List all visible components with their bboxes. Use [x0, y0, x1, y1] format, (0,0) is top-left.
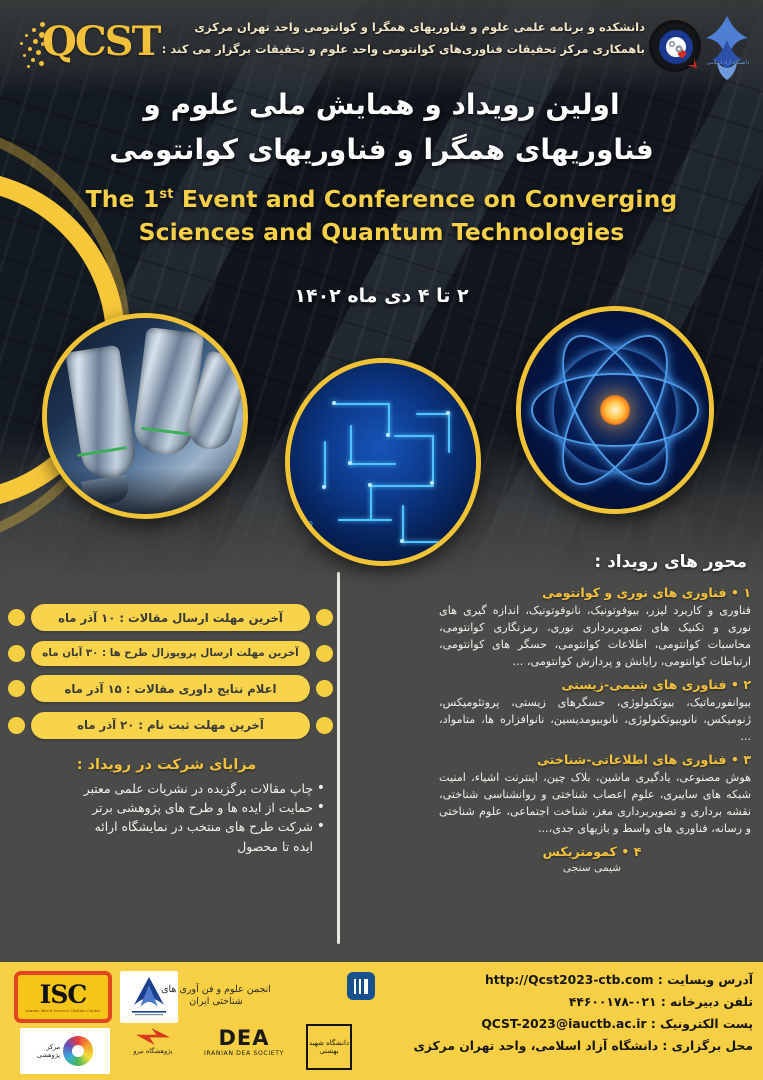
microscope-image-circle: [42, 313, 248, 519]
bolt-icon: [136, 1028, 170, 1045]
isc-main-text: ISC: [40, 982, 87, 1007]
qcst-gears-icon: [666, 37, 686, 57]
topic-title: ۳ • فناوری های اطلاعاتی-شناختی: [433, 752, 751, 767]
english-title-line-1: The 1st Event and Conference on Convergi…: [0, 183, 763, 216]
topic-label: کمومتریکس: [543, 844, 617, 859]
atom-nucleus: [600, 395, 630, 425]
topic-title: ۱ • فناوری های نوری و کوانتومی: [433, 585, 751, 600]
topic-number: ۴ •: [621, 844, 641, 859]
topics-heading: محور های رویداد :: [427, 552, 757, 578]
organizer-line-2: باهمکاری مرکز تحقیقات فناوری‌های کوانتوم…: [125, 38, 645, 60]
deadline-row: آخرین مهلت ارسال مقالات : ۱۰ آذر ماه: [8, 604, 333, 631]
deadline-pill-proposals[interactable]: آخرین مهلت ارسال پروپوزال طرح ها : ۳۰ آب…: [31, 641, 310, 666]
dot-left-icon: [316, 717, 333, 734]
venue-value: دانشگاه آزاد اسلامی، واحد تهران مرکزی: [414, 1039, 659, 1053]
topic-body: فناوری و کاربرد لیزر، بیوفوتونیک، نانوفو…: [433, 602, 751, 670]
azad-caption: دانشگاه آزاد اسلامی: [706, 60, 750, 66]
topic-number: ۲ •: [731, 677, 751, 692]
dea-society-logo: DEA IRANIAN DEA SOCIETY: [192, 1028, 296, 1057]
benefit-item: چاپ مقالات برگزیده در نشریات علمی معتبر: [8, 779, 325, 798]
deadline-pill-registration[interactable]: آخرین مهلت ثبت نام : ۲۰ آذر ماه: [31, 712, 310, 739]
main-content: محور های رویداد : ۱ • فناوری های نوری و …: [0, 552, 763, 964]
isc-logo: ISC Islamic World Science Citation Cente…: [14, 971, 112, 1023]
dot-left-icon: [316, 645, 333, 662]
atom-image-circle: [516, 306, 714, 514]
microscope-photo: [47, 318, 243, 514]
topic-label: فناوری های شیمی-زیستی: [561, 677, 726, 692]
deadline-pill-review-results[interactable]: اعلام نتایج داوری مقالات : ۱۵ آذر ماه: [31, 675, 310, 702]
deadline-row: اعلام نتایج داوری مقالات : ۱۵ آذر ماه: [8, 675, 333, 702]
topics-section: محور های رویداد : ۱ • فناوری های نوری و …: [427, 552, 757, 874]
topic-body: بیوانفورماتیک، بیوتکنولوژی، حسگرهای زیست…: [433, 694, 751, 745]
phone-value: ۰۲۱-۴۴۶۰۰۱۷۸: [569, 995, 657, 1009]
qcst-logo: QCST: [12, 12, 138, 74]
topic-label: فناوری های نوری و کوانتومی: [542, 585, 726, 600]
dot-right-icon: [8, 609, 25, 626]
topic-number: ۱ •: [731, 585, 751, 600]
dot-right-icon: [8, 680, 25, 697]
dot-right-icon: [8, 717, 25, 734]
benefit-item: شرکت طرح های منتخب در نمایشگاه ارائه: [8, 817, 325, 836]
benefit-continuation: ایده تا محصول: [8, 837, 325, 856]
topic-label: فناوری های اطلاعاتی-شناختی: [537, 752, 727, 767]
benefits-section: مزایای شرکت در رویداد : چاپ مقالات برگزی…: [8, 757, 333, 856]
email-line: پست الکترونیک : QCST-2023@iauctb.ac.ir: [333, 1014, 753, 1036]
dea-main-text: DEA: [218, 1026, 269, 1050]
benefits-heading: مزایای شرکت در رویداد :: [8, 757, 325, 773]
isc-sub-text: Islamic World Science Citation Center: [26, 1009, 101, 1013]
topic-item: ۲ • فناوری های شیمی-زیستی بیوانفورماتیک،…: [427, 677, 757, 745]
phone-line: تلفن دبیرخانه : ۰۲۱-۴۴۶۰۰۱۷۸: [333, 992, 753, 1014]
venue-line: محل برگزاری : دانشگاه آزاد اسلامی، واحد …: [333, 1036, 753, 1058]
topic-item: ۳ • فناوری های اطلاعاتی-شناختی هوش مصنوع…: [427, 752, 757, 837]
atom-photo: [521, 311, 709, 509]
english-title-line-2: Sciences and Quantum Technologies: [0, 216, 763, 249]
ordinal-suffix: st: [159, 187, 173, 202]
dot-left-icon: [316, 609, 333, 626]
contact-info: آدرس وبسایت : http://Qcst2023-ctb.com تل…: [333, 970, 753, 1058]
persian-title-line-2: فناوریهای همگرا و فناوریهای کوانتومی: [0, 127, 763, 172]
azad-university-logo-icon: [701, 12, 753, 86]
organizer-text: دانشکده و برنامه علمی علوم و فناوریهای ه…: [125, 16, 645, 61]
vertical-divider: [337, 572, 340, 944]
email-label: پست الکترونیک :: [651, 1017, 753, 1031]
niroo-label: پژوهشگاه نیرو: [118, 1047, 188, 1055]
topic-item: ۴ • کمومتریکس شیمی سنجی: [427, 844, 757, 874]
dot-left-icon: [316, 680, 333, 697]
cognitive-society-name: انجمن علوم و فن آوری های شناختی ایران: [156, 984, 276, 1009]
color-wheel-icon: [63, 1036, 93, 1066]
deadline-row: آخرین مهلت ارسال پروپوزال طرح ها : ۳۰ آب…: [8, 641, 333, 666]
sponsor-logos: ISC Islamic World Science Citation Cente…: [6, 966, 336, 1076]
binary-digits: 0110 0100 1001 100: [296, 520, 313, 555]
benefit-item: حمایت از ایده ها و طرح های پژوهشی برتر: [8, 798, 325, 817]
english-title-rest: Event and Conference on Converging: [174, 185, 678, 213]
topic-title: ۲ • فناوری های شیمی-زیستی: [433, 677, 751, 692]
email-value[interactable]: QCST-2023@iauctb.ac.ir: [481, 1014, 646, 1036]
english-title: The 1st Event and Conference on Convergi…: [0, 183, 763, 250]
topic-item: ۱ • فناوری های نوری و کوانتومی فناوری و …: [427, 585, 757, 670]
website-value[interactable]: http://Qcst2023-ctb.com: [485, 970, 654, 992]
deadline-pill-articles[interactable]: آخرین مهلت ارسال مقالات : ۱۰ آذر ماه: [31, 604, 310, 631]
venue-label: محل برگزاری :: [662, 1039, 753, 1053]
poster-footer: ISC Islamic World Science Citation Cente…: [0, 962, 763, 1080]
deadlines-and-benefits: آخرین مهلت ارسال مقالات : ۱۰ آذر ماه آخر…: [8, 604, 333, 856]
brain-circuit-image-circle: 0110 0100 1001 100: [285, 358, 481, 566]
research-center-logo: مرکزپژوهشی: [20, 1028, 110, 1074]
topic-number: ۳ •: [731, 752, 751, 767]
deadline-row: آخرین مهلت ثبت نام : ۲۰ آذر ماه: [8, 712, 333, 739]
organizer-line-1: دانشکده و برنامه علمی علوم و فناوریهای ه…: [125, 16, 645, 38]
niroo-research-logo: پژوهشگاه نیرو: [118, 1028, 188, 1055]
persian-title-line-1: اولین رویداد و همایش ملی علوم و: [0, 82, 763, 127]
dot-right-icon: [8, 645, 25, 662]
website-label: آدرس وبسایت :: [658, 973, 753, 987]
research-center-name: مرکزپژوهشی: [37, 1043, 60, 1059]
english-title-pre: The 1: [86, 185, 160, 213]
topic-title: ۴ • کمومتریکس: [433, 844, 751, 859]
event-date: ۲ تا ۴ دی ماه ۱۴۰۲: [0, 285, 763, 307]
topic-body: شیمی سنجی: [433, 861, 751, 874]
brain-circuit-photo: 0110 0100 1001 100: [290, 363, 476, 561]
topic-body: هوش مصنوعی، یادگیری ماشین، بلاک چین، این…: [433, 769, 751, 837]
qcst-circle-logo-icon: [649, 20, 701, 72]
conference-poster: QCST دانشکده و برنامه علمی علوم و فناوری…: [0, 0, 763, 1080]
persian-title: اولین رویداد و همایش ملی علوم و فناوریها…: [0, 82, 763, 173]
website-line: آدرس وبسایت : http://Qcst2023-ctb.com: [333, 970, 753, 992]
dea-sub-text: IRANIAN DEA SOCIETY: [192, 1050, 296, 1057]
phone-label: تلفن دبیرخانه :: [661, 995, 753, 1009]
header-logos: دانشگاه آزاد اسلامی: [645, 8, 755, 92]
